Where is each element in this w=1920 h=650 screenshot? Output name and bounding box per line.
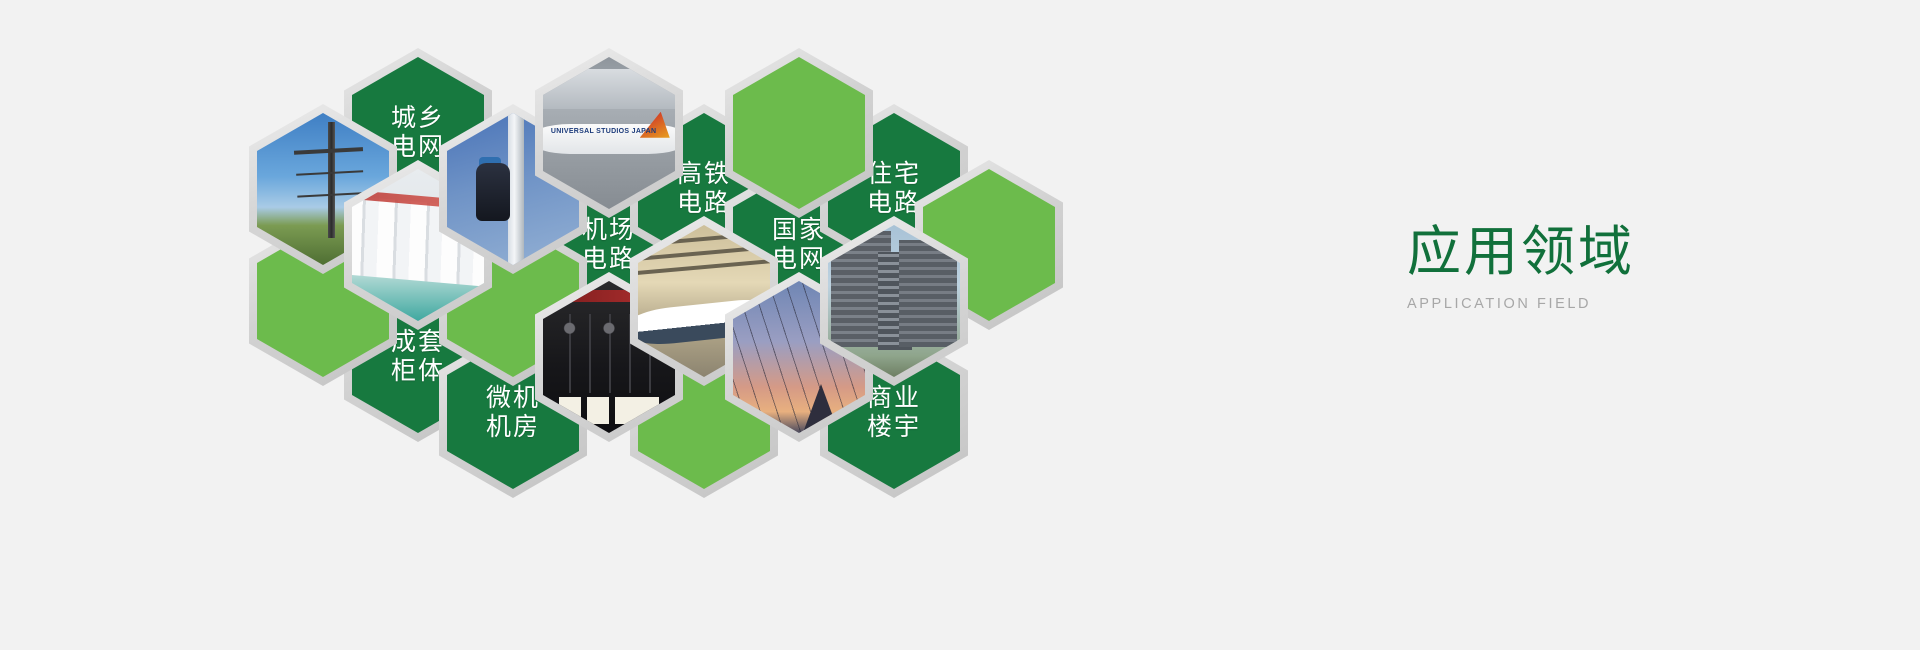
hex-label-line: 电路 xyxy=(677,189,731,218)
hex-label-line: 高铁 xyxy=(677,160,731,189)
hex-label-line: 机场 xyxy=(582,216,636,245)
hex-label-line: 柜体 xyxy=(391,357,445,386)
hex-label-line: 楼宇 xyxy=(867,413,921,442)
hex-label-line: 电网 xyxy=(772,245,826,274)
hex-label-line: 电路 xyxy=(867,189,921,218)
hex-label-line: 成套 xyxy=(391,328,445,357)
hex-label-line: 电路 xyxy=(582,245,636,274)
heading-block: 应用领域 APPLICATION FIELD xyxy=(1407,225,1847,312)
hex-label-line: 城乡 xyxy=(391,104,445,133)
hex-label-high-speed-rail: 高铁电路 xyxy=(677,160,731,218)
hex-label-commercial-building: 商业楼宇 xyxy=(867,384,921,442)
hex-label-line: 国家 xyxy=(772,216,826,245)
page-title: 应用领域 xyxy=(1407,225,1847,279)
hex-label-residential-circuit: 住宅电路 xyxy=(867,160,921,218)
hex-label-line: 住宅 xyxy=(867,160,921,189)
hex-label-line: 机房 xyxy=(486,413,540,442)
hex-label-line: 电网 xyxy=(391,133,445,162)
hex-label-line: 微机 xyxy=(486,384,540,413)
hex-label-switchgear-cabinet: 成套柜体 xyxy=(391,328,445,386)
hex-label-urban-rural-grid: 城乡电网 xyxy=(391,104,445,162)
hex-label-line: 商业 xyxy=(867,384,921,413)
page-subtitle: APPLICATION FIELD xyxy=(1407,296,1847,312)
hex-label-state-grid: 国家电网 xyxy=(772,216,826,274)
city-midrise-block xyxy=(878,252,912,349)
airplane-livery-text: UNIVERSAL STUDIOS JAPAN xyxy=(551,128,656,135)
hex-label-airport-circuit: 机场电路 xyxy=(582,216,636,274)
hex-label-computer-room: 微机机房 xyxy=(486,384,540,442)
application-field-banner: 城乡电网机场电路高铁电路国家电网住宅电路成套柜体微机机房商业楼宇UNIVERSA… xyxy=(0,0,1920,650)
